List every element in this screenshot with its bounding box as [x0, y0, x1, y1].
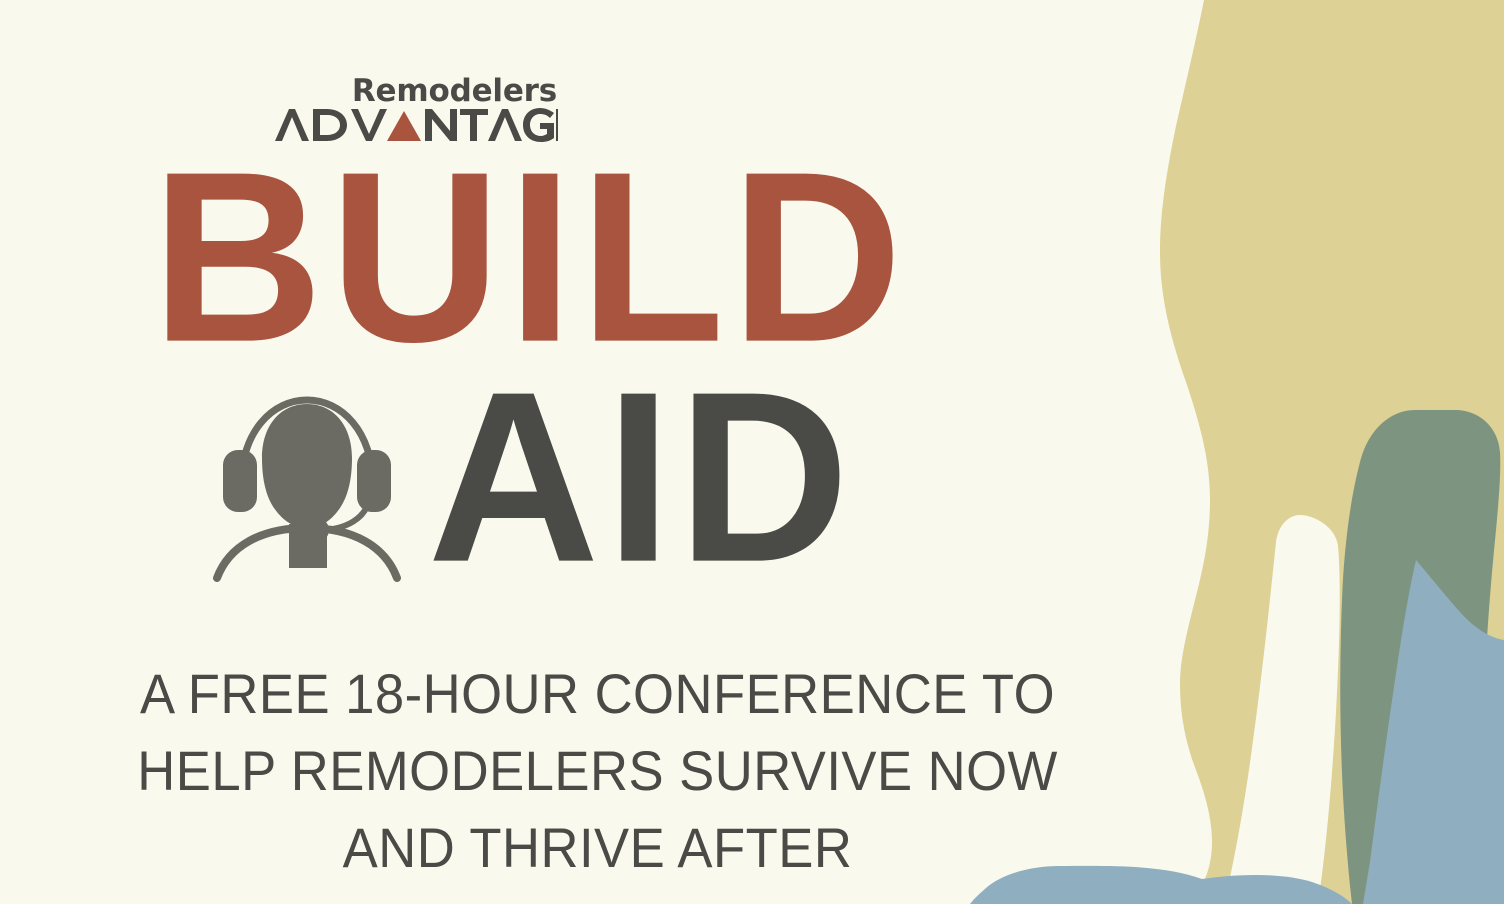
headset-earcup-right	[357, 450, 391, 512]
sage-green-blob-lower	[1457, 744, 1504, 904]
steel-blue-blob-shape	[1363, 560, 1504, 904]
headset-person-icon	[205, 378, 410, 583]
person-head	[262, 404, 352, 528]
subtitle-line-1: A FREE 18-HOUR CONFERENCE TO	[36, 655, 1159, 732]
subtitle-line-2: HELP REMODELERS SURVIVE NOW	[36, 732, 1159, 809]
gold-blob-notch	[1224, 515, 1340, 904]
logo-top-word: Remodelers	[273, 76, 558, 106]
sage-green-blob-shape	[1340, 410, 1504, 904]
title-build: BUILD	[151, 148, 908, 367]
title-aid: AID	[428, 368, 856, 587]
steel-blue-right-bottom	[1196, 875, 1352, 904]
title-line1-row: BUILD	[0, 150, 1060, 365]
subtitle-block: A FREE 18-HOUR CONFERENCE TO HELP REMODE…	[0, 655, 1195, 886]
gold-blob-shape	[1160, 0, 1504, 904]
title-line2-row: AID	[0, 370, 1060, 585]
headset-earcup-left	[223, 450, 257, 512]
poster-canvas: Remodelers BUILD	[0, 0, 1504, 904]
subtitle-line-3: AND THRIVE AFTER	[36, 809, 1159, 886]
